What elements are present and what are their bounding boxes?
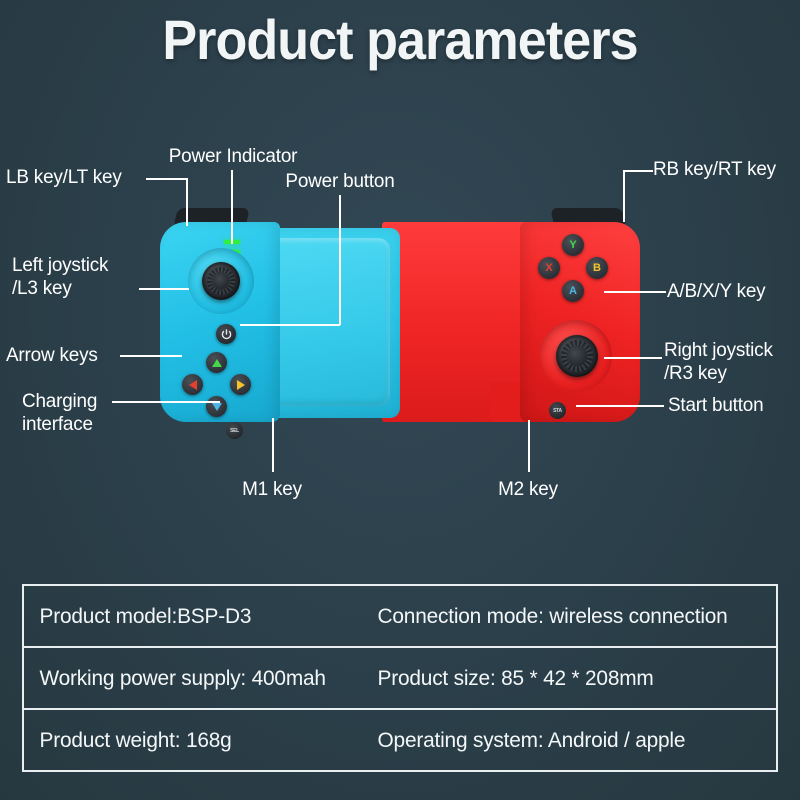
callout-m1-key: M1 key (214, 478, 330, 501)
leader-line-right-joystick (604, 357, 662, 359)
y-button-label: Y (569, 239, 576, 251)
triangle-up-icon (212, 359, 222, 367)
triangle-down-icon (212, 403, 222, 411)
spec-cell-product-weight: Product weight: 168g (24, 727, 352, 753)
x-button-label: X (545, 262, 552, 274)
leader-line-charging (112, 401, 220, 403)
leader-line-abxy (604, 291, 666, 293)
leader-line-lb-lt-v (186, 178, 188, 226)
b-button-label: B (593, 262, 601, 274)
leader-line-rb-rt-v (623, 170, 625, 222)
a-button[interactable]: A (562, 280, 584, 302)
callout-right-joystick-line2: /R3 key (664, 362, 727, 385)
callout-m2-key: M2 key (470, 478, 586, 501)
leader-line-left-joystick (139, 288, 189, 290)
leader-line-lb-lt-h (146, 178, 188, 180)
joystick-cap (567, 346, 587, 366)
callout-charging-line2: interface (22, 413, 93, 436)
callout-power-indicator: Power Indicator (152, 145, 313, 168)
phone-tray-inner (264, 238, 390, 406)
page-title: Product parameters (28, 8, 772, 72)
spec-cell-product-model: Product model:BSP-D3 (24, 603, 352, 629)
power-button[interactable] (216, 324, 236, 344)
spec-cell-connection-mode: Connection mode: wireless connection (362, 603, 763, 629)
power-icon (221, 329, 232, 340)
leader-line-rb-rt-h (623, 170, 653, 172)
spec-cell-operating-system: Operating system: Android / apple (362, 727, 763, 753)
start-button-control[interactable]: STA (549, 402, 566, 419)
select-button[interactable]: SEL (226, 422, 243, 439)
callout-abxy: A/B/X/Y key (667, 280, 765, 303)
leader-line-start-button (576, 405, 664, 407)
spec-cell-power-supply: Working power supply: 400mah (24, 665, 352, 691)
triangle-right-icon (237, 380, 245, 390)
callout-left-joystick-line2: /L3 key (12, 277, 72, 300)
callout-right-joystick-line1: Right joystick (664, 339, 773, 362)
a-button-label: A (569, 285, 577, 297)
leader-line-power-indicator (231, 170, 233, 244)
product-parameters-page: Product parameters (0, 0, 800, 800)
leader-line-m2 (528, 420, 530, 472)
spec-cell-product-size: Product size: 85 * 42 * 208mm (362, 665, 763, 691)
spec-table: Product model:BSP-D3 Connection mode: wi… (22, 584, 778, 772)
dpad-left-button[interactable] (182, 374, 203, 395)
callout-rb-rt: RB key/RT key (653, 158, 776, 181)
joystick-cap (213, 273, 229, 289)
callout-lb-lt: LB key/LT key (6, 166, 122, 189)
right-joystick[interactable] (556, 335, 598, 377)
leader-line-power-button-v (339, 195, 341, 325)
dpad-down-button[interactable] (206, 396, 227, 417)
leader-line-m1 (272, 418, 274, 472)
leader-line-power-button-h (240, 324, 340, 326)
callout-charging-line1: Charging (22, 390, 97, 413)
x-button[interactable]: X (538, 257, 560, 279)
callout-start-button: Start button (668, 394, 763, 417)
y-button[interactable]: Y (562, 234, 584, 256)
dpad-right-button[interactable] (230, 374, 251, 395)
callout-left-joystick-line1: Left joystick (12, 254, 108, 277)
game-controller-image: SEL STA Y X B A (160, 216, 640, 428)
dpad-up-button[interactable] (206, 352, 227, 373)
table-row: Product weight: 168g Operating system: A… (24, 708, 776, 770)
triangle-left-icon (189, 380, 197, 390)
left-joystick[interactable] (202, 262, 240, 300)
table-row: Product model:BSP-D3 Connection mode: wi… (24, 586, 776, 646)
callout-arrow-keys: Arrow keys (6, 344, 98, 367)
b-button[interactable]: B (586, 257, 608, 279)
leader-line-arrow-keys (120, 355, 182, 357)
callout-power-button: Power button (259, 170, 422, 193)
table-row: Working power supply: 400mah Product siz… (24, 646, 776, 708)
